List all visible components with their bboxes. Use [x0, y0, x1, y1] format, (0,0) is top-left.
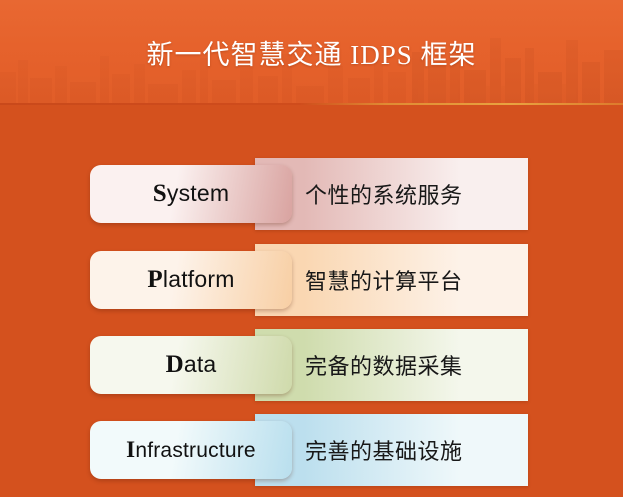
layer-description-panel-data: 完备的数据采集	[255, 329, 528, 401]
layer-description-infrastructure: 完善的基础设施	[305, 414, 522, 486]
header-band: 新一代智慧交通 IDPS 框架	[0, 0, 623, 104]
layer-row-platform[interactable]: 智慧的计算平台 Platform	[0, 244, 623, 316]
layer-description-panel-system: 个性的系统服务	[255, 158, 528, 230]
layer-name-platform: Platform	[147, 266, 234, 294]
layer-row-system[interactable]: 个性的系统服务 System	[0, 158, 623, 230]
layer-name-infrastructure: Infrastructure	[126, 437, 256, 463]
layer-pill-data[interactable]: Data	[90, 336, 292, 394]
layer-pill-infrastructure[interactable]: Infrastructure	[90, 421, 292, 479]
layer-description-data: 完备的数据采集	[305, 329, 522, 401]
slide-canvas: 新一代智慧交通 IDPS 框架 个性的系统服务 System 智慧的计算平台 P…	[0, 0, 623, 497]
layer-name-data: Data	[166, 351, 217, 379]
layer-initial-data: D	[166, 351, 184, 378]
layer-initial-infrastructure: I	[126, 437, 135, 462]
layer-rest-platform: latform	[163, 266, 235, 292]
layer-row-infrastructure[interactable]: 完善的基础设施 Infrastructure	[0, 414, 623, 486]
layer-rest-infrastructure: nfrastructure	[135, 439, 255, 462]
layer-initial-platform: P	[147, 266, 162, 293]
layer-description-panel-infrastructure: 完善的基础设施	[255, 414, 528, 486]
layer-name-system: System	[153, 180, 229, 208]
layer-description-system: 个性的系统服务	[305, 158, 522, 230]
layer-description-platform: 智慧的计算平台	[305, 244, 522, 316]
layer-initial-system: S	[153, 180, 167, 207]
layer-rest-data: ata	[184, 351, 217, 377]
page-title: 新一代智慧交通 IDPS 框架	[0, 0, 623, 104]
layer-row-data[interactable]: 完备的数据采集 Data	[0, 329, 623, 401]
layer-description-panel-platform: 智慧的计算平台	[255, 244, 528, 316]
layer-rest-system: ystem	[167, 180, 229, 206]
layer-pill-system[interactable]: System	[90, 165, 292, 223]
layer-pill-platform[interactable]: Platform	[90, 251, 292, 309]
